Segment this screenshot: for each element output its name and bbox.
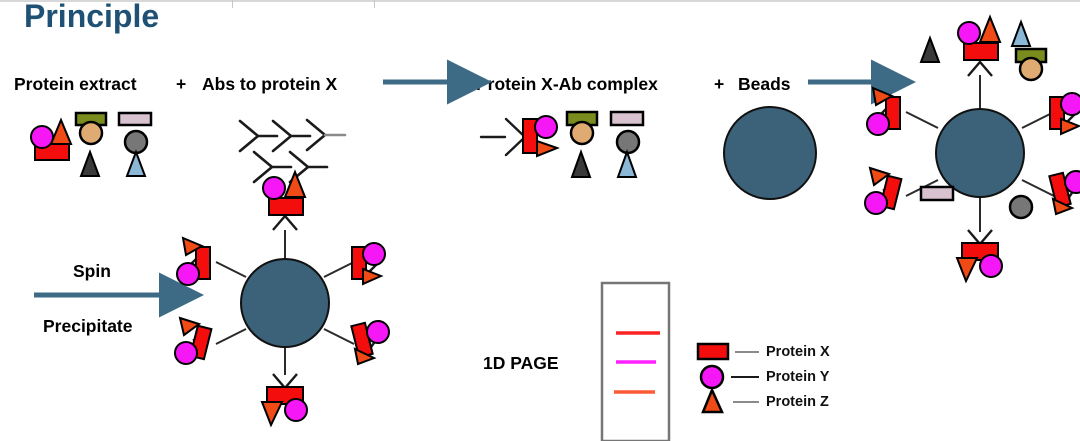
protein-extract-group	[31, 113, 151, 176]
legend-group	[698, 344, 759, 412]
bead-complex-top-left	[263, 172, 305, 230]
bead-complex-midright-right	[1050, 93, 1080, 134]
legend-glyph-protein-z	[703, 390, 759, 412]
bound-protein-z	[537, 141, 557, 156]
label-1d-page: 1D PAGE	[483, 353, 559, 374]
label-protein-extract: Protein extract	[14, 74, 137, 95]
antibody-1	[240, 121, 277, 151]
legend-glyph-protein-y	[701, 366, 759, 388]
antibody-3	[307, 120, 345, 150]
free-dark-triangle-right	[921, 38, 939, 62]
bead-complex-lowerright-left	[351, 321, 389, 364]
other-protein-dark-triangle	[81, 152, 99, 176]
legend-glyph-protein-x	[698, 344, 759, 359]
protein-x-complex-free	[31, 120, 71, 160]
free-blue-triangle-right	[1012, 22, 1030, 46]
slide-canvas: Principle Protein extract + Abs to prote…	[0, 0, 1080, 441]
label-protein-x-ab-complex: Protein X-Ab complex	[476, 74, 658, 95]
bead-with-complexes-right	[865, 17, 1080, 281]
top-tick-1	[232, 0, 233, 8]
bead-core-precipitated	[241, 259, 329, 347]
bead-complex-lowerright-right	[1049, 171, 1080, 214]
label-plus-2: +	[714, 74, 724, 95]
bead-complex-midleft-right	[867, 88, 900, 135]
bead-complex-midright-left	[352, 243, 385, 284]
label-precipitate: Precipitate	[43, 316, 132, 337]
other-protein-dark-triangle-2	[572, 152, 590, 177]
other-protein-pink-group-2	[611, 112, 643, 153]
bead-complex-bottom-left	[262, 374, 307, 425]
free-gray-circle-right	[1010, 196, 1032, 218]
bead-complex-bottom-right	[957, 230, 1002, 281]
antibody-2	[273, 121, 310, 151]
legend-label-protein-z: Protein Z	[766, 394, 829, 410]
label-abs-to-protein-x: Abs to protein X	[202, 74, 337, 95]
free-olive-protein-right	[1016, 49, 1046, 80]
legend-label-protein-x: Protein X	[766, 344, 830, 360]
other-protein-blue-triangle	[127, 152, 145, 176]
free-antibodies-group	[240, 120, 345, 182]
top-tick-2	[374, 0, 375, 8]
antibody-4	[254, 152, 291, 182]
antibody-bound	[481, 119, 525, 155]
bead-complex-lowerleft-right	[865, 168, 901, 214]
bead-complex-top-right	[958, 17, 1000, 76]
bead-plain	[724, 107, 816, 199]
bead-with-complexes-precipitated	[175, 172, 389, 425]
bead-core-right	[936, 109, 1024, 197]
legend-label-protein-y: Protein Y	[766, 369, 829, 385]
label-beads: Beads	[738, 74, 791, 95]
other-protein-olive-group-2	[567, 112, 597, 144]
bead-complex-midleft-left	[177, 238, 210, 285]
gel-lane	[602, 283, 669, 441]
other-protein-pink-group	[119, 113, 151, 153]
label-spin: Spin	[73, 261, 111, 282]
page-title: Principle	[24, 0, 159, 35]
protein-x-ab-complex-group	[481, 112, 643, 177]
other-protein-olive-group	[76, 113, 106, 144]
top-divider	[0, 0, 1080, 2]
label-plus-1: +	[176, 74, 186, 95]
other-protein-blue-triangle-2	[618, 152, 636, 177]
bead-complex-lowerleft-left	[175, 318, 211, 364]
bound-protein-y	[535, 116, 557, 138]
antibody-5	[290, 152, 327, 182]
bound-protein-x	[523, 119, 537, 153]
free-pink-rect-right	[921, 187, 953, 200]
